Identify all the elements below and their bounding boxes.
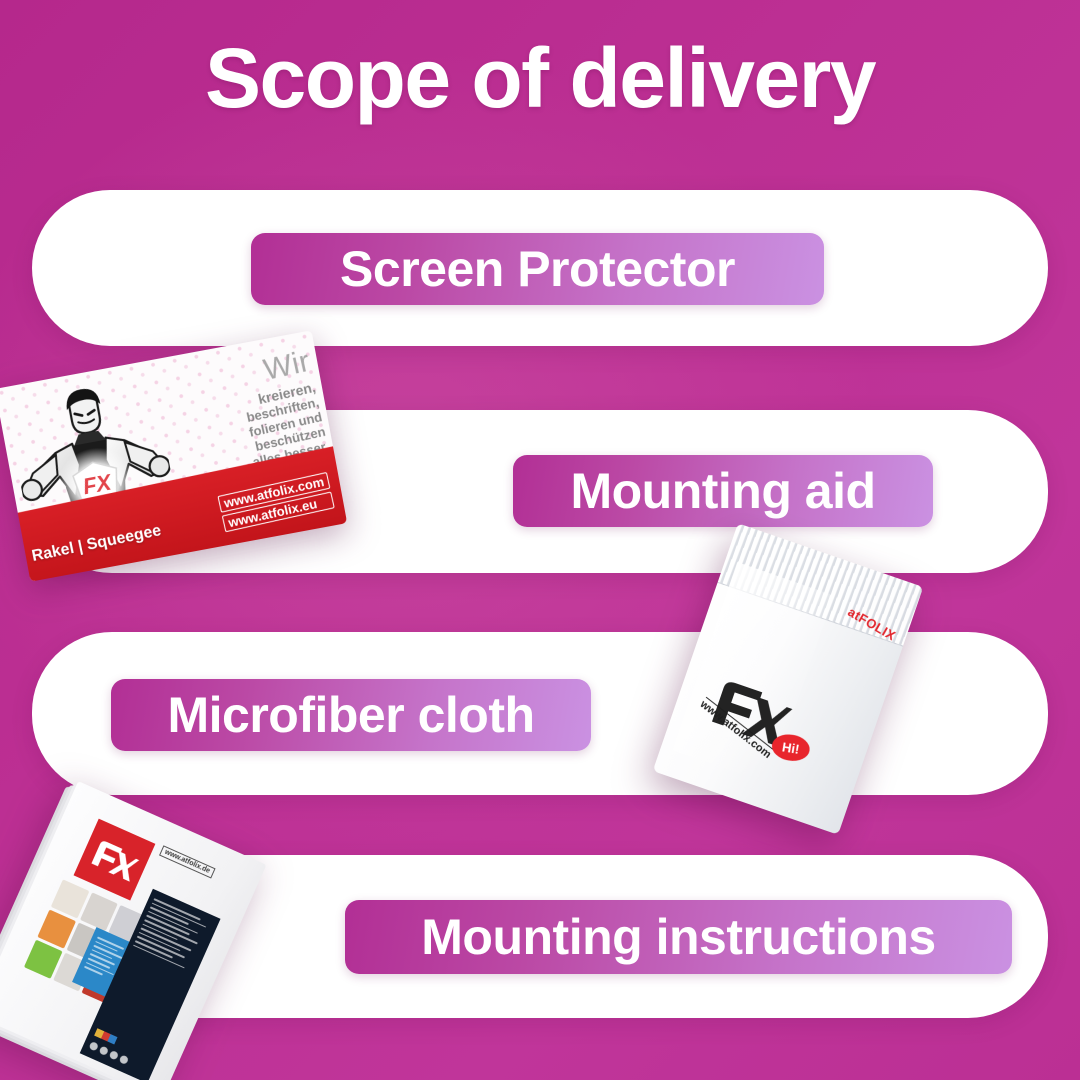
booklet-social-icons — [88, 1041, 129, 1065]
social-dot-icon — [98, 1045, 109, 1056]
instruction-booklet-image: www.atfolix.de — [0, 780, 285, 1080]
item-label-microfiber-cloth: Microfiber cloth — [111, 679, 591, 751]
booklet-page-stack: www.atfolix.de — [0, 781, 266, 1080]
language-flags-icon — [94, 1028, 117, 1044]
item-label-text: Mounting aid — [570, 462, 875, 520]
scope-of-delivery-infographic: Scope of delivery Screen Protector Mount… — [0, 0, 1080, 1080]
fx-logo-icon — [74, 819, 156, 901]
item-label-text: Screen Protector — [340, 240, 735, 298]
item-label-text: Microfiber cloth — [167, 686, 534, 744]
item-label-screen-protector: Screen Protector — [251, 233, 824, 305]
item-label-mounting-instructions: Mounting instructions — [345, 900, 1012, 974]
social-dot-icon — [88, 1041, 99, 1052]
item-label-text: Mounting instructions — [421, 908, 935, 966]
item-label-mounting-aid: Mounting aid — [513, 455, 933, 527]
booklet-url: www.atfolix.de — [159, 845, 215, 878]
booklet-cover-page: www.atfolix.de — [0, 781, 266, 1080]
page-title: Scope of delivery — [0, 34, 1080, 122]
booklet-dark-text-lines — [132, 898, 213, 974]
social-dot-icon — [109, 1050, 120, 1061]
social-dot-icon — [119, 1054, 130, 1065]
